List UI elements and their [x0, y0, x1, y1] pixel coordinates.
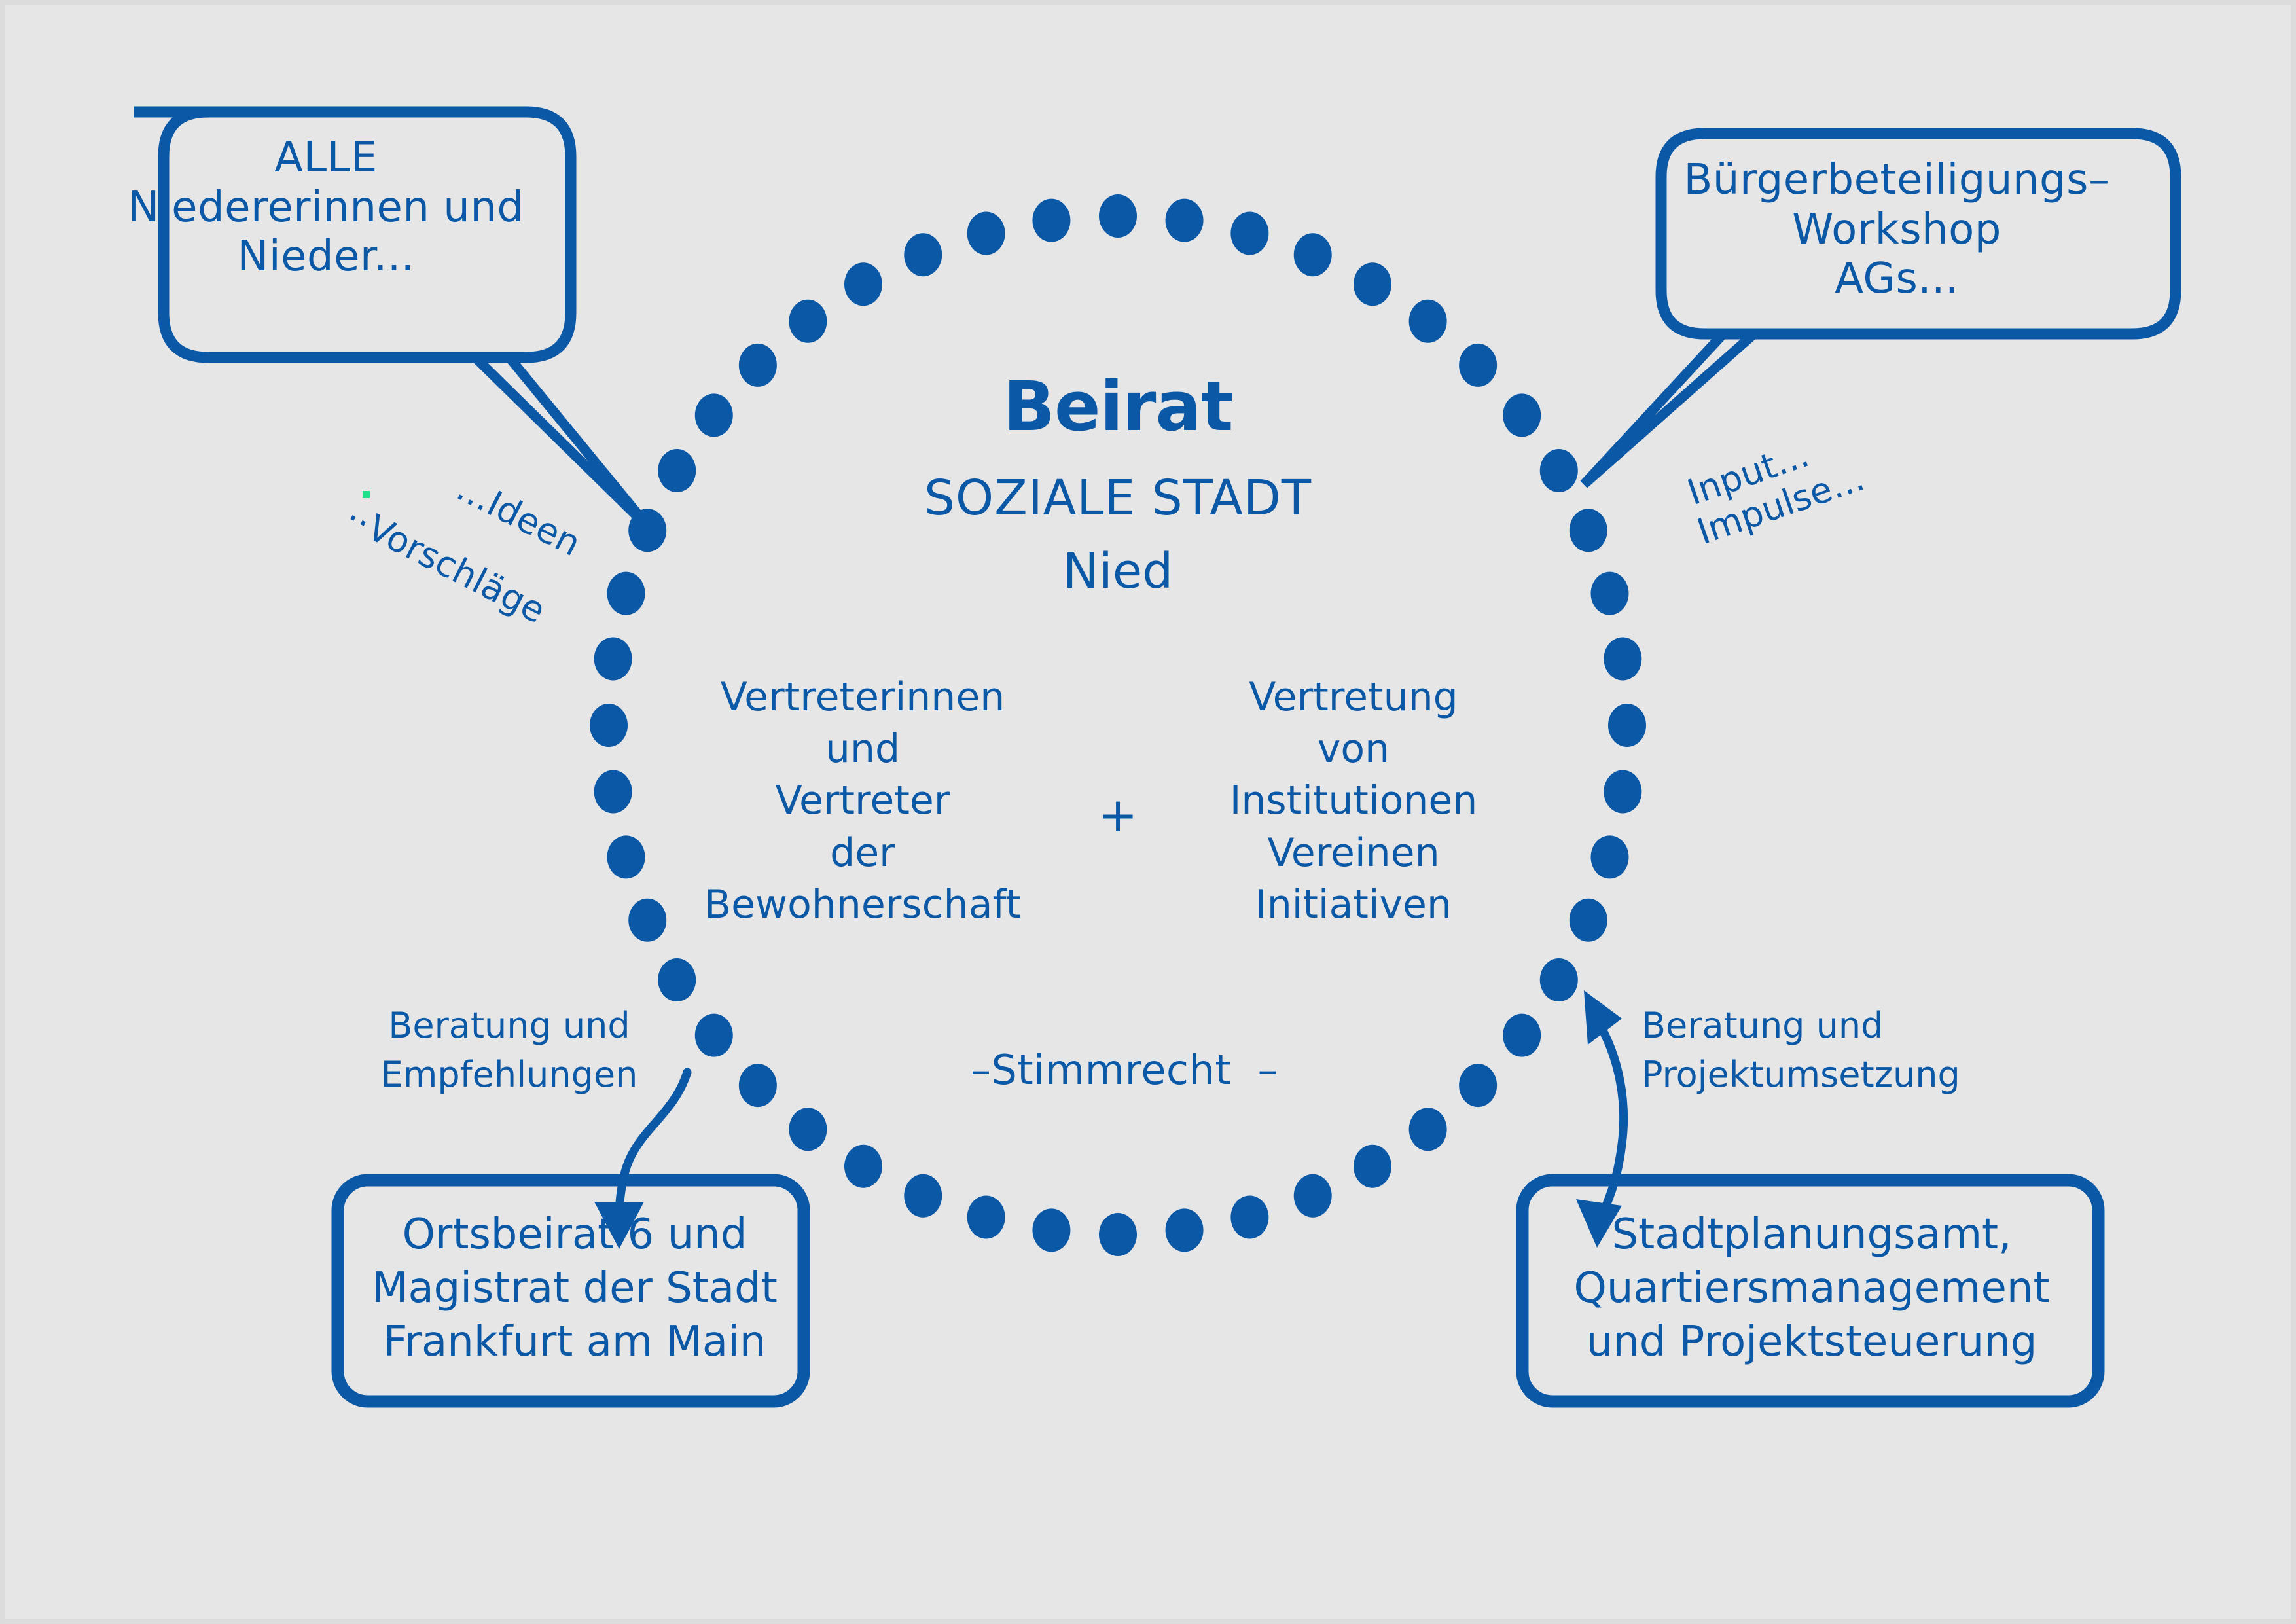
circle-dot	[1230, 212, 1268, 255]
circle-dot	[1503, 393, 1541, 437]
circle-dot	[1590, 835, 1628, 878]
circle-dot	[1459, 1064, 1497, 1107]
circle-dot	[739, 1064, 777, 1107]
circle-dot	[1540, 449, 1578, 492]
circle-dot	[628, 509, 666, 552]
circle-dot	[904, 233, 942, 276]
circle-dot	[1354, 1145, 1391, 1188]
page-title: Beirat	[823, 367, 1412, 447]
circle-dot	[1166, 1208, 1204, 1252]
circle-dot	[1604, 770, 1641, 814]
diagram-canvas: ALLE Niedererinnen und Nieder... Bürgerb…	[0, 0, 2296, 1624]
center-column-left: Vertreterinnen und Vertreter der Bewohne…	[699, 672, 1026, 931]
circle-dot	[844, 262, 882, 306]
circle-dot	[594, 637, 632, 680]
circle-dot	[658, 958, 696, 1001]
green-marker-icon	[363, 491, 370, 498]
circle-dot	[590, 704, 628, 747]
circle-dot	[1294, 1174, 1332, 1218]
annotation-beratung-empfehlungen: Beratung und Empfehlungen	[372, 1001, 647, 1099]
circle-dot	[1166, 199, 1204, 242]
circle-dot	[1604, 637, 1641, 680]
circle-dot	[967, 1195, 1005, 1238]
bubble-top-right-label: Bürgerbeteiligungs– Workshop AGs...	[1668, 156, 2126, 304]
annotation-beratung-projektumsetzung: Beratung und Projektumsetzung	[1641, 1001, 1969, 1099]
circle-dot	[1590, 572, 1628, 615]
box-bottom-right-label: Stadtplanungsamt, Quartiersmanagement un…	[1530, 1208, 2093, 1369]
circle-dot	[1540, 958, 1578, 1001]
center-column-right: Vertretung von Institutionen Vereinen In…	[1190, 672, 1517, 931]
circle-dot	[844, 1145, 882, 1188]
box-bottom-left-label: Ortsbeirat 6 und Magistrat der Stadt Fra…	[352, 1208, 797, 1369]
circle-dot	[658, 449, 696, 492]
circle-dot	[695, 393, 733, 437]
circle-dot	[628, 899, 666, 942]
center-footer-stimmrecht: –Stimmrecht –	[922, 1046, 1327, 1094]
circle-dot	[789, 300, 827, 343]
circle-dot	[1459, 344, 1497, 387]
circle-dot	[594, 770, 632, 814]
circle-dot	[1354, 262, 1391, 306]
circle-dot	[739, 344, 777, 387]
circle-dot	[1608, 704, 1646, 747]
circle-dot	[1230, 1195, 1268, 1238]
circle-dot	[607, 572, 645, 615]
circle-dot	[1570, 899, 1607, 942]
circle-dot	[607, 835, 645, 878]
circle-dot	[1409, 1108, 1447, 1151]
bubble-top-left-label: ALLE Niedererinnen und Nieder...	[97, 134, 555, 282]
circle-dot	[695, 1014, 733, 1057]
circle-dot	[1099, 194, 1137, 238]
circle-dot	[1409, 300, 1447, 343]
center-subtitle-line2: Nied	[823, 543, 1412, 600]
circle-dot	[967, 212, 1005, 255]
circle-dot	[1032, 1208, 1070, 1252]
circle-dot	[789, 1108, 827, 1151]
circle-dot	[904, 1174, 942, 1218]
plus-icon: +	[1079, 787, 1157, 843]
circle-dot	[1570, 509, 1607, 552]
circle-dot	[1099, 1213, 1137, 1256]
circle-dot	[1503, 1014, 1541, 1057]
circle-dot	[1032, 199, 1070, 242]
circle-dot	[1294, 233, 1332, 276]
center-subtitle-line1: SOZIALE STADT	[823, 470, 1412, 527]
